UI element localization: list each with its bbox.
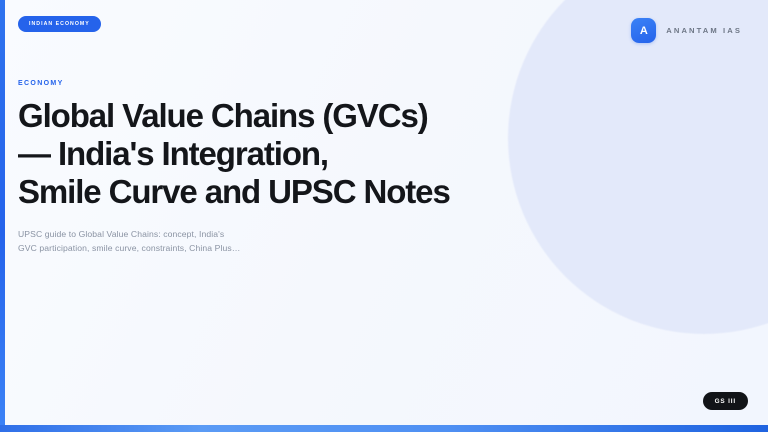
exam-paper-badge[interactable]: GS III xyxy=(703,392,748,410)
bottom-accent-bar xyxy=(0,425,768,432)
title-slide: INDIAN ECONOMY A ANANTAM IAS ECONOMY Glo… xyxy=(0,0,768,432)
left-accent-stripe xyxy=(0,0,5,426)
exam-paper-badge-label: GS III xyxy=(715,398,736,405)
topic-kicker: ECONOMY xyxy=(18,80,518,87)
content-block: ECONOMY Global Value Chains (GVCs) — Ind… xyxy=(18,80,518,255)
category-badge[interactable]: INDIAN ECONOMY xyxy=(18,16,101,32)
category-badge-label: INDIAN ECONOMY xyxy=(29,21,90,27)
brand-logo-icon: A xyxy=(631,18,656,43)
page-title: Global Value Chains (GVCs) — India's Int… xyxy=(18,97,518,211)
page-subtitle: UPSC guide to Global Value Chains: conce… xyxy=(18,227,280,255)
brand-name-label: ANANTAM IAS xyxy=(666,26,742,35)
decorative-circle xyxy=(508,0,768,334)
brand-lockup[interactable]: A ANANTAM IAS xyxy=(631,18,742,43)
brand-logo-letter: A xyxy=(640,25,648,37)
